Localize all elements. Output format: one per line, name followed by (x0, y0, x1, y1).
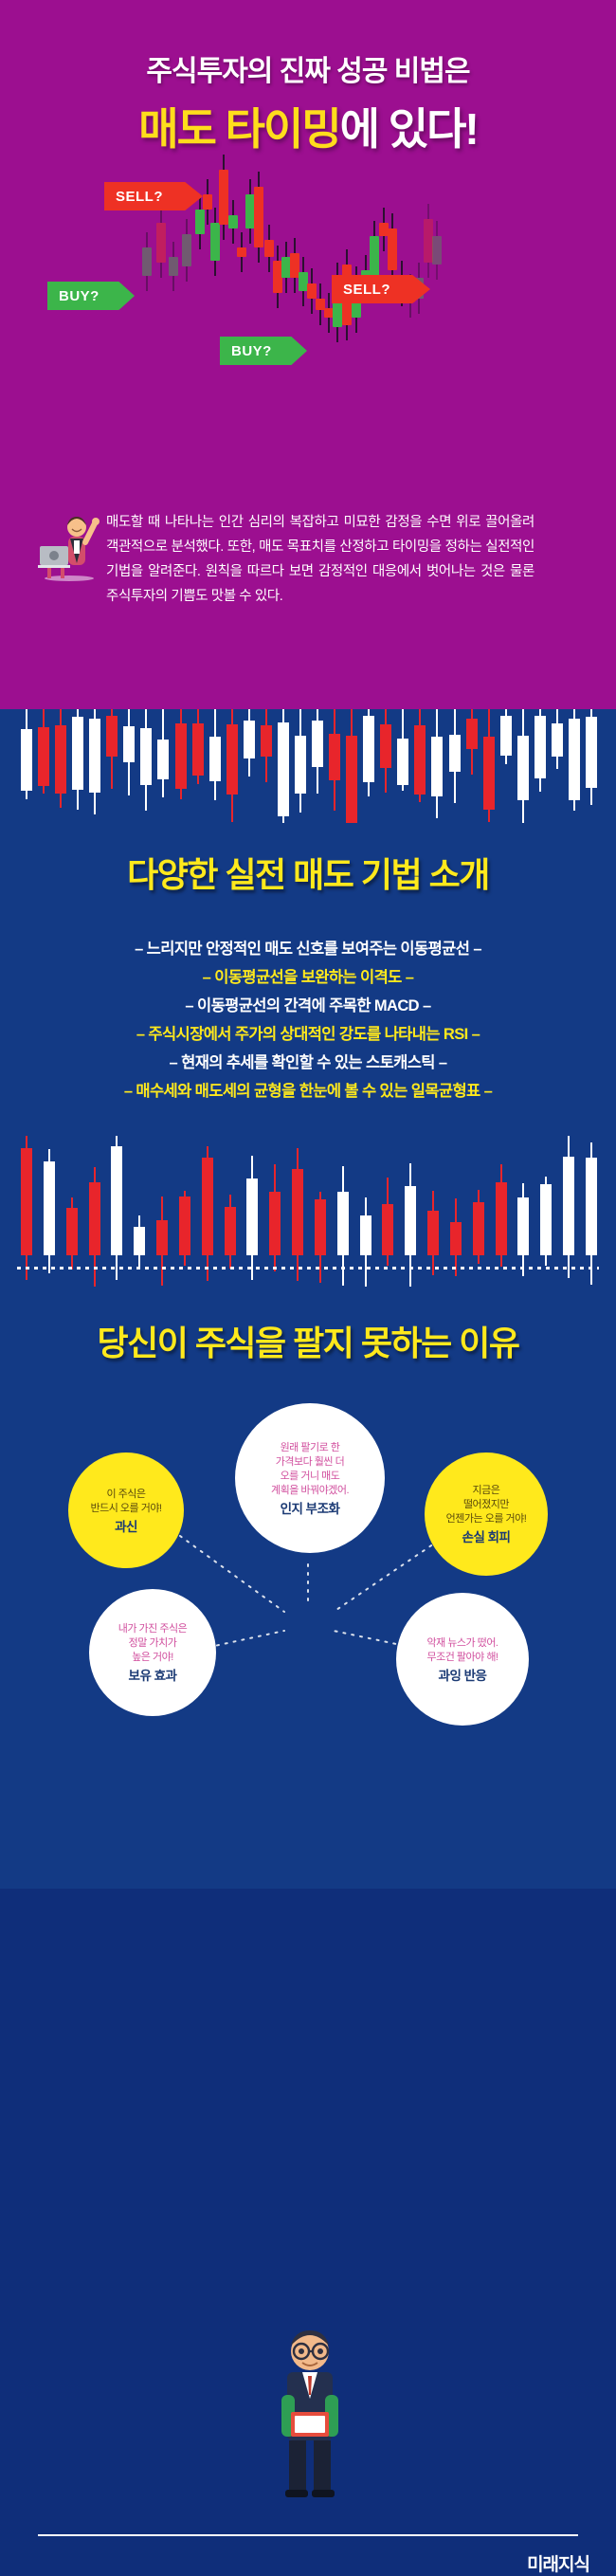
bar-candle (540, 1177, 552, 1266)
top-bar-chart (0, 709, 616, 823)
dotted-divider (17, 1267, 599, 1270)
bias-message: 지금은떨어졌지만언젠가는 오를 거야! (446, 1484, 527, 1526)
person-at-desk-icon (36, 502, 102, 582)
bias-name: 손실 회피 (462, 1530, 511, 1544)
bar-candle (534, 709, 546, 792)
technique-item: – 느리지만 안정적인 매도 신호를 보여주는 이동평균선 – (0, 935, 616, 963)
technique-item: – 이동평균선을 보완하는 이격도 – (0, 963, 616, 992)
bar-candle (431, 709, 443, 818)
bar-candle (21, 709, 32, 799)
brand-logo: 미래지식 (527, 2550, 589, 2576)
bias-message: 원래 팔기로 한가격보다 훨씬 더오를 거니 매도계획을 바꿔야겠어. (271, 1441, 349, 1498)
bar-candle (380, 709, 391, 793)
bias-name: 인지 부조화 (281, 1502, 340, 1516)
bar-candle (140, 709, 152, 811)
bar-candle (427, 1191, 439, 1275)
bar-candle (123, 709, 135, 795)
candlestick (182, 219, 191, 282)
hero-section: 주식투자의 진짜 성공 비법은 매도 타이밍에 있다! SELL? SELL? … (0, 0, 616, 709)
bar-candle (312, 709, 323, 794)
bar-candle (261, 709, 272, 782)
hero-paragraph: 매도할 때 나타나는 인간 심리의 복잡하고 미묘한 감정을 수면 위로 끌어올… (106, 510, 534, 609)
bar-candle (397, 709, 408, 791)
bias-message: 악재 뉴스가 떴어.무조건 팔아야 해! (426, 1636, 498, 1665)
bar-candle (517, 1183, 529, 1276)
bar-candle (360, 1197, 371, 1287)
sell-tag-1: SELL? (104, 182, 203, 210)
bar-candle (202, 1146, 213, 1282)
bar-candle (66, 1197, 78, 1269)
biases-heading: 당신이 주식을 팔지 못하는 이유 (0, 1316, 616, 1365)
bar-candle (292, 1148, 303, 1282)
bias-bubble-loss-aversion: 지금은떨어졌지만언젠가는 오를 거야! 손실 회피 (425, 1452, 548, 1576)
bias-name: 과잉 반응 (439, 1669, 487, 1683)
bar-candle (246, 1156, 258, 1279)
bar-candle (244, 709, 255, 776)
bar-candle (483, 709, 495, 822)
bar-candle (134, 1215, 145, 1268)
bar-candle (450, 1198, 462, 1276)
bar-candle (278, 709, 289, 823)
bar-candle (473, 1190, 484, 1264)
bar-candle (517, 709, 529, 823)
bar-candle (466, 709, 478, 775)
buy-tag-2: BUY? (220, 337, 307, 365)
bias-message: 이 주식은반드시 오를 거야! (90, 1488, 161, 1516)
bar-candle (225, 1195, 236, 1268)
technique-item: – 현재의 추세를 확인할 수 있는 스토캐스틱 – (0, 1049, 616, 1077)
bar-candle (552, 709, 563, 769)
technique-item: – 이동평균선의 간격에 주목한 MACD – (0, 992, 616, 1020)
bar-candle (175, 709, 187, 799)
candlestick (254, 172, 263, 263)
bar-candle (179, 1191, 190, 1266)
bar-candle (156, 1197, 168, 1286)
bar-candle (21, 1136, 32, 1280)
bias-bubble-overconfidence: 이 주식은반드시 오를 거야! 과신 (68, 1452, 184, 1568)
bar-candle (226, 709, 238, 822)
hero-title-line1: 주식투자의 진짜 성공 비법은 (0, 47, 616, 89)
bar-candle (38, 709, 49, 794)
bar-candle (55, 709, 66, 808)
bias-bubbles-group: 원래 팔기로 한가격보다 훨씬 더오를 거니 매도계획을 바꿔야겠어. 인지 부… (0, 1384, 616, 1782)
sell-tag-2: SELL? (332, 275, 430, 303)
bias-message: 내가 가진 주식은정말 가치가높은 거야! (118, 1622, 187, 1665)
techniques-list: – 느리지만 안정적인 매도 신호를 보여주는 이동평균선 –– 이동평균선을 … (0, 935, 616, 1105)
technique-item: – 주식시장에서 주가의 상대적인 강도를 나타내는 RSI – (0, 1020, 616, 1049)
bar-candle (89, 709, 100, 814)
hero-title-line2: 매도 타이밍에 있다! (0, 95, 616, 157)
bar-candle (586, 1142, 597, 1285)
bar-candle (563, 1136, 574, 1278)
bar-candle (586, 709, 597, 805)
bar-candle (569, 709, 580, 811)
bar-candle (106, 709, 118, 789)
candlestick (169, 242, 178, 291)
candlestick (388, 213, 397, 285)
bar-candle (382, 1178, 393, 1266)
technique-item: – 매수세와 매도세의 균형을 한눈에 볼 수 있는 일목균형표 – (0, 1077, 616, 1105)
bar-candle (72, 709, 83, 810)
footer-divider (38, 2534, 578, 2536)
candlestick (156, 208, 166, 278)
bar-candle (496, 1164, 507, 1267)
bias-bubble-overreaction: 악재 뉴스가 떴어.무조건 팔아야 해! 과잉 반응 (396, 1593, 529, 1726)
hero-title-highlight: 매도 타이밍 (138, 104, 339, 154)
techniques-heading: 다양한 실전 매도 기법 소개 (0, 848, 616, 897)
infographic-page: 주식투자의 진짜 성공 비법은 매도 타이밍에 있다! SELL? SELL? … (0, 0, 616, 1889)
bias-bubble-endowment-effect: 내가 가진 주식은정말 가치가높은 거야! 보유 효과 (89, 1589, 216, 1716)
candlestick (432, 221, 442, 280)
buy-tag-1: BUY? (47, 282, 135, 310)
bar-candle (346, 709, 357, 823)
bias-name: 과신 (115, 1520, 137, 1534)
bar-candle (329, 709, 340, 811)
bar-candle (192, 709, 204, 784)
candlestick (142, 232, 152, 291)
bar-candle (500, 709, 512, 764)
bias-bubble-cognitive-dissonance: 원래 팔기로 한가격보다 훨씬 더오를 거니 매도계획을 바꿔야겠어. 인지 부… (235, 1403, 385, 1553)
bar-candle (269, 1164, 281, 1271)
hero-candlestick-chart (0, 166, 616, 384)
blue-section: 다양한 실전 매도 기법 소개 – 느리지만 안정적인 매도 신호를 보여주는 … (0, 709, 616, 1889)
bar-candle (44, 1149, 55, 1272)
confused-investor-figure (270, 2321, 350, 2501)
bar-candle (295, 709, 306, 813)
bar-candle (111, 1136, 122, 1280)
bar-candle (363, 709, 374, 796)
bias-name: 보유 효과 (129, 1669, 177, 1683)
bar-candle (449, 709, 461, 803)
bar-candle (209, 709, 221, 800)
bar-candle (157, 709, 169, 797)
candlestick (219, 155, 228, 240)
middle-bar-chart (0, 1136, 616, 1288)
hero-title-rest: 에 있다! (340, 104, 478, 154)
bar-candle (414, 709, 426, 802)
